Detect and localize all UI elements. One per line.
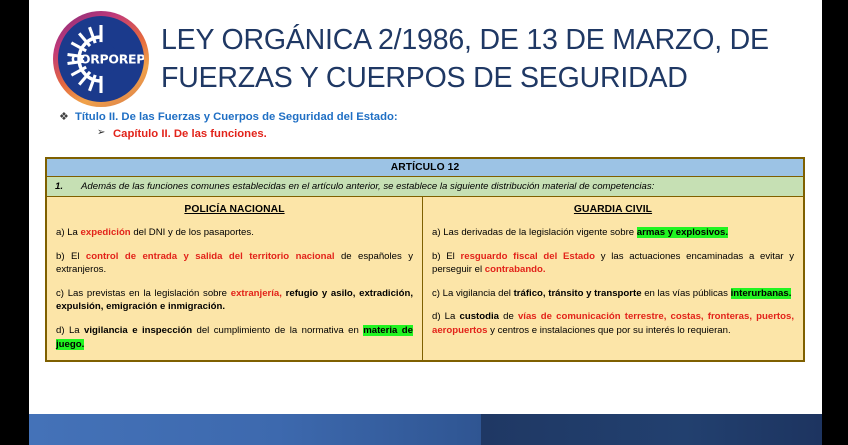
competency-item-a: a) Las derivadas de la legislación vigen… — [432, 226, 794, 240]
letterbox-band-right — [822, 0, 848, 445]
bullet-item-titulo-label: Título II. De las Fuerzas y Cuerpos de S… — [75, 110, 398, 124]
text-run: del cumplimiento de la normativa en — [192, 325, 363, 336]
text-run: a) La — [56, 227, 81, 238]
text-run: a) Las derivadas de la legislación vigen… — [432, 227, 637, 238]
competency-item-d: d) La vigilancia e inspección del cumpli… — [56, 324, 413, 351]
bullet-item-capitulo-label: Capítulo II. De las funciones. — [113, 127, 267, 141]
text-run: custodia — [460, 311, 499, 322]
column-guardia-civil: GUARDIA CIVIL a) Las derivadas de la leg… — [423, 197, 803, 360]
text-run: contrabando. — [485, 264, 546, 275]
text-run: armas y explosivos. — [637, 227, 728, 238]
policia-nacional-items: a) La expedición del DNI y de los pasapo… — [56, 226, 413, 351]
text-run: c) La vigilancia del — [432, 288, 514, 299]
footer-band — [29, 414, 822, 445]
bullet-list: ❖ Título II. De las Fuerzas y Cuerpos de… — [29, 110, 822, 141]
letterbox-band-left — [0, 0, 29, 445]
column-policia-nacional: POLICÍA NACIONAL a) La expedición del DN… — [47, 197, 423, 360]
text-run: expedición — [81, 227, 131, 238]
competency-item-b: b) El resguardo fiscal del Estado y las … — [432, 250, 794, 277]
bullet-item-titulo: ❖ Título II. De las Fuerzas y Cuerpos de… — [29, 110, 822, 124]
text-run: en las vías públicas — [642, 288, 731, 299]
diamond-bullet-icon: ❖ — [59, 110, 75, 124]
text-run: c) Las previstas en la legislación sobre — [56, 288, 231, 299]
page-title-line2: FUERZAS Y CUERPOS DE SEGURIDAD — [161, 60, 801, 98]
slide-header: CORPOREPOL LEY ORGÁNICA 2/1986, DE 13 DE… — [29, 0, 822, 112]
corporepol-logo: CORPOREPOL — [53, 11, 149, 107]
competency-item-d: d) La custodia de vías de comunicación t… — [432, 310, 794, 337]
competency-item-a: a) La expedición del DNI y de los pasapo… — [56, 226, 413, 240]
bullet-item-capitulo: ➢ Capítulo II. De las funciones. — [29, 127, 822, 141]
text-run: interurbanas. — [731, 288, 792, 299]
arrow-bullet-icon: ➢ — [97, 127, 113, 140]
text-run: b) El — [56, 251, 86, 262]
slide-canvas: CORPOREPOL LEY ORGÁNICA 2/1986, DE 13 DE… — [29, 0, 822, 445]
footer-band-left — [29, 414, 481, 445]
competency-item-b: b) El control de entrada y salida del te… — [56, 250, 413, 277]
text-run: extranjería, — [231, 288, 282, 299]
text-run: d) La — [432, 311, 460, 322]
page-title: LEY ORGÁNICA 2/1986, DE 13 DE MARZO, DE … — [161, 22, 801, 97]
competency-item-c: c) Las previstas en la legislación sobre… — [56, 287, 413, 314]
text-run: b) El — [432, 251, 461, 262]
footer-band-right — [481, 414, 822, 445]
competency-item-c: c) La vigilancia del tráfico, tránsito y… — [432, 287, 794, 301]
text-run: vigilancia e inspección — [84, 325, 192, 336]
slide-root: CORPOREPOL LEY ORGÁNICA 2/1986, DE 13 DE… — [0, 0, 848, 445]
article-intro-number: 1. — [55, 181, 81, 192]
logo-wordmark: CORPOREPOL — [58, 52, 144, 67]
text-run: d) La — [56, 325, 84, 336]
text-run: de — [499, 311, 518, 322]
text-run: del DNI y de los pasaportes. — [131, 227, 254, 238]
text-run: resguardo fiscal del Estado — [461, 251, 595, 262]
article-header: ARTÍCULO 12 — [46, 158, 804, 177]
column-policia-nacional-title: POLICÍA NACIONAL — [56, 204, 413, 215]
competency-columns: POLICÍA NACIONAL a) La expedición del DN… — [46, 197, 804, 361]
article-table: ARTÍCULO 12 1. Además de las funciones c… — [45, 157, 805, 362]
column-guardia-civil-title: GUARDIA CIVIL — [432, 204, 794, 215]
page-title-line1: LEY ORGÁNICA 2/1986, DE 13 DE MARZO, DE — [161, 22, 801, 60]
text-run: y centros e instalaciones que por su int… — [487, 325, 730, 336]
article-intro-row: 1. Además de las funciones comunes estab… — [46, 177, 804, 197]
logo-inner-circle: CORPOREPOL — [58, 16, 144, 102]
text-run: control de entrada y salida del territor… — [86, 251, 335, 262]
text-run: tráfico, tránsito y transporte — [514, 288, 642, 299]
guardia-civil-items: a) Las derivadas de la legislación vigen… — [432, 226, 794, 338]
article-intro-text: Además de las funciones comunes establec… — [81, 181, 654, 192]
